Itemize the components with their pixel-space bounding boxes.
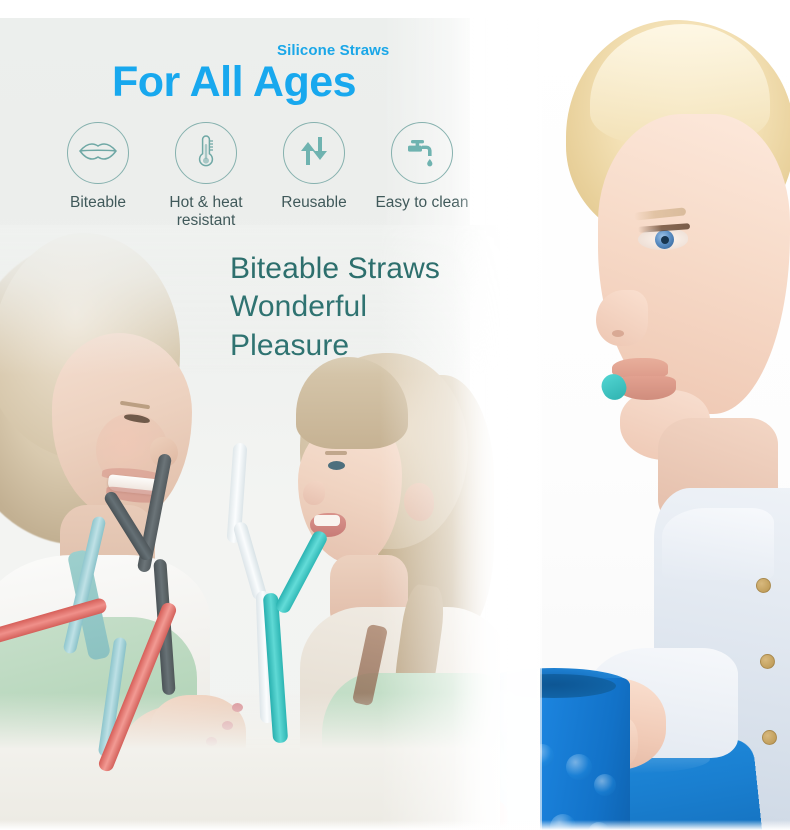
feature-label: Reusable (281, 194, 347, 212)
cup-bump (566, 754, 592, 780)
white-straw-bend (232, 521, 268, 602)
feature-easy-to-clean: Easy to clean (368, 122, 476, 240)
tagline: Biteable Straws Wonderful Pleasure (230, 250, 440, 365)
feature-label: Hot & heat resistant (153, 194, 259, 231)
page-title: For All Ages (112, 58, 356, 107)
toddler-nose (596, 290, 648, 346)
scene-toddler (470, 18, 790, 830)
faucet-icon (405, 134, 439, 173)
feature-label: Easy to clean (375, 194, 468, 212)
feature-label: Biteable (70, 194, 126, 212)
feature-icon-circle (391, 122, 453, 184)
tagline-line-3: Pleasure (230, 327, 440, 365)
recycle-arrows-icon (297, 135, 331, 172)
feature-icon-circle (175, 122, 237, 184)
girl-ear (404, 483, 434, 521)
toddler-collar (662, 508, 774, 580)
toddler-nostril (612, 330, 624, 337)
table-surface (0, 693, 500, 830)
feature-badge-list: Biteable Hot & heat resistant (44, 122, 484, 240)
cup-bump (530, 744, 554, 768)
shirt-button (760, 654, 775, 669)
tagline-line-1: Biteable Straws (230, 250, 440, 288)
shirt-button (762, 730, 777, 745)
girl-eyebrow (325, 451, 347, 455)
feature-heat-resistant: Hot & heat resistant (152, 122, 260, 240)
tagline-line-2: Wonderful (230, 288, 440, 326)
feature-icon-circle (283, 122, 345, 184)
lips-icon (78, 139, 118, 168)
top-white-strip (0, 0, 790, 18)
cup-bump (510, 806, 534, 830)
feature-reusable: Reusable (260, 122, 368, 240)
girl-eye (328, 461, 345, 470)
feature-icon-circle (67, 122, 129, 184)
cup-bump (594, 774, 616, 796)
thermometer-icon (193, 132, 219, 175)
kicker-text: Silicone Straws (277, 42, 389, 59)
girl-teeth (314, 515, 340, 526)
shirt-button (756, 578, 771, 593)
girl-nose (303, 481, 325, 505)
product-poster: Silicone Straws For All Ages Biteable (0, 0, 790, 830)
teal-straw-mouth-end (274, 529, 329, 616)
toddler-pupil (661, 236, 669, 244)
feature-biteable: Biteable (44, 122, 152, 240)
